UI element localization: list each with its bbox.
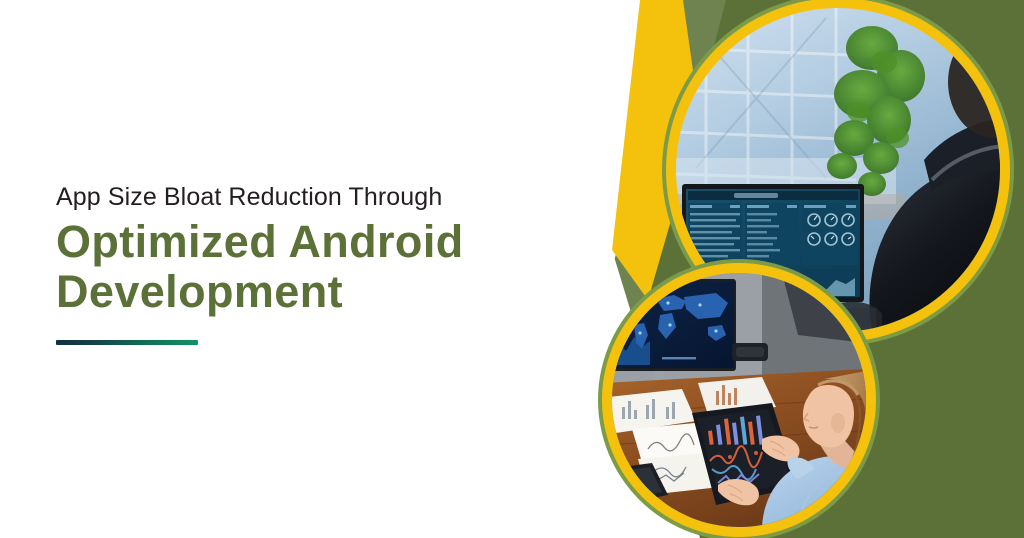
tablet-analytics-illustration [612,273,866,527]
headline-block: App Size Bloat Reduction Through Optimiz… [56,182,576,317]
bottom-circle-photo [612,273,866,527]
eyebrow-text: App Size Bloat Reduction Through [56,182,576,213]
headline-line-1: Optimized Android [56,217,576,267]
blog-banner: App Size Bloat Reduction Through Optimiz… [0,0,1024,538]
accent-underline [56,340,198,345]
headline-line-2: Development [56,267,576,317]
page-title: Optimized Android Development [56,217,576,318]
